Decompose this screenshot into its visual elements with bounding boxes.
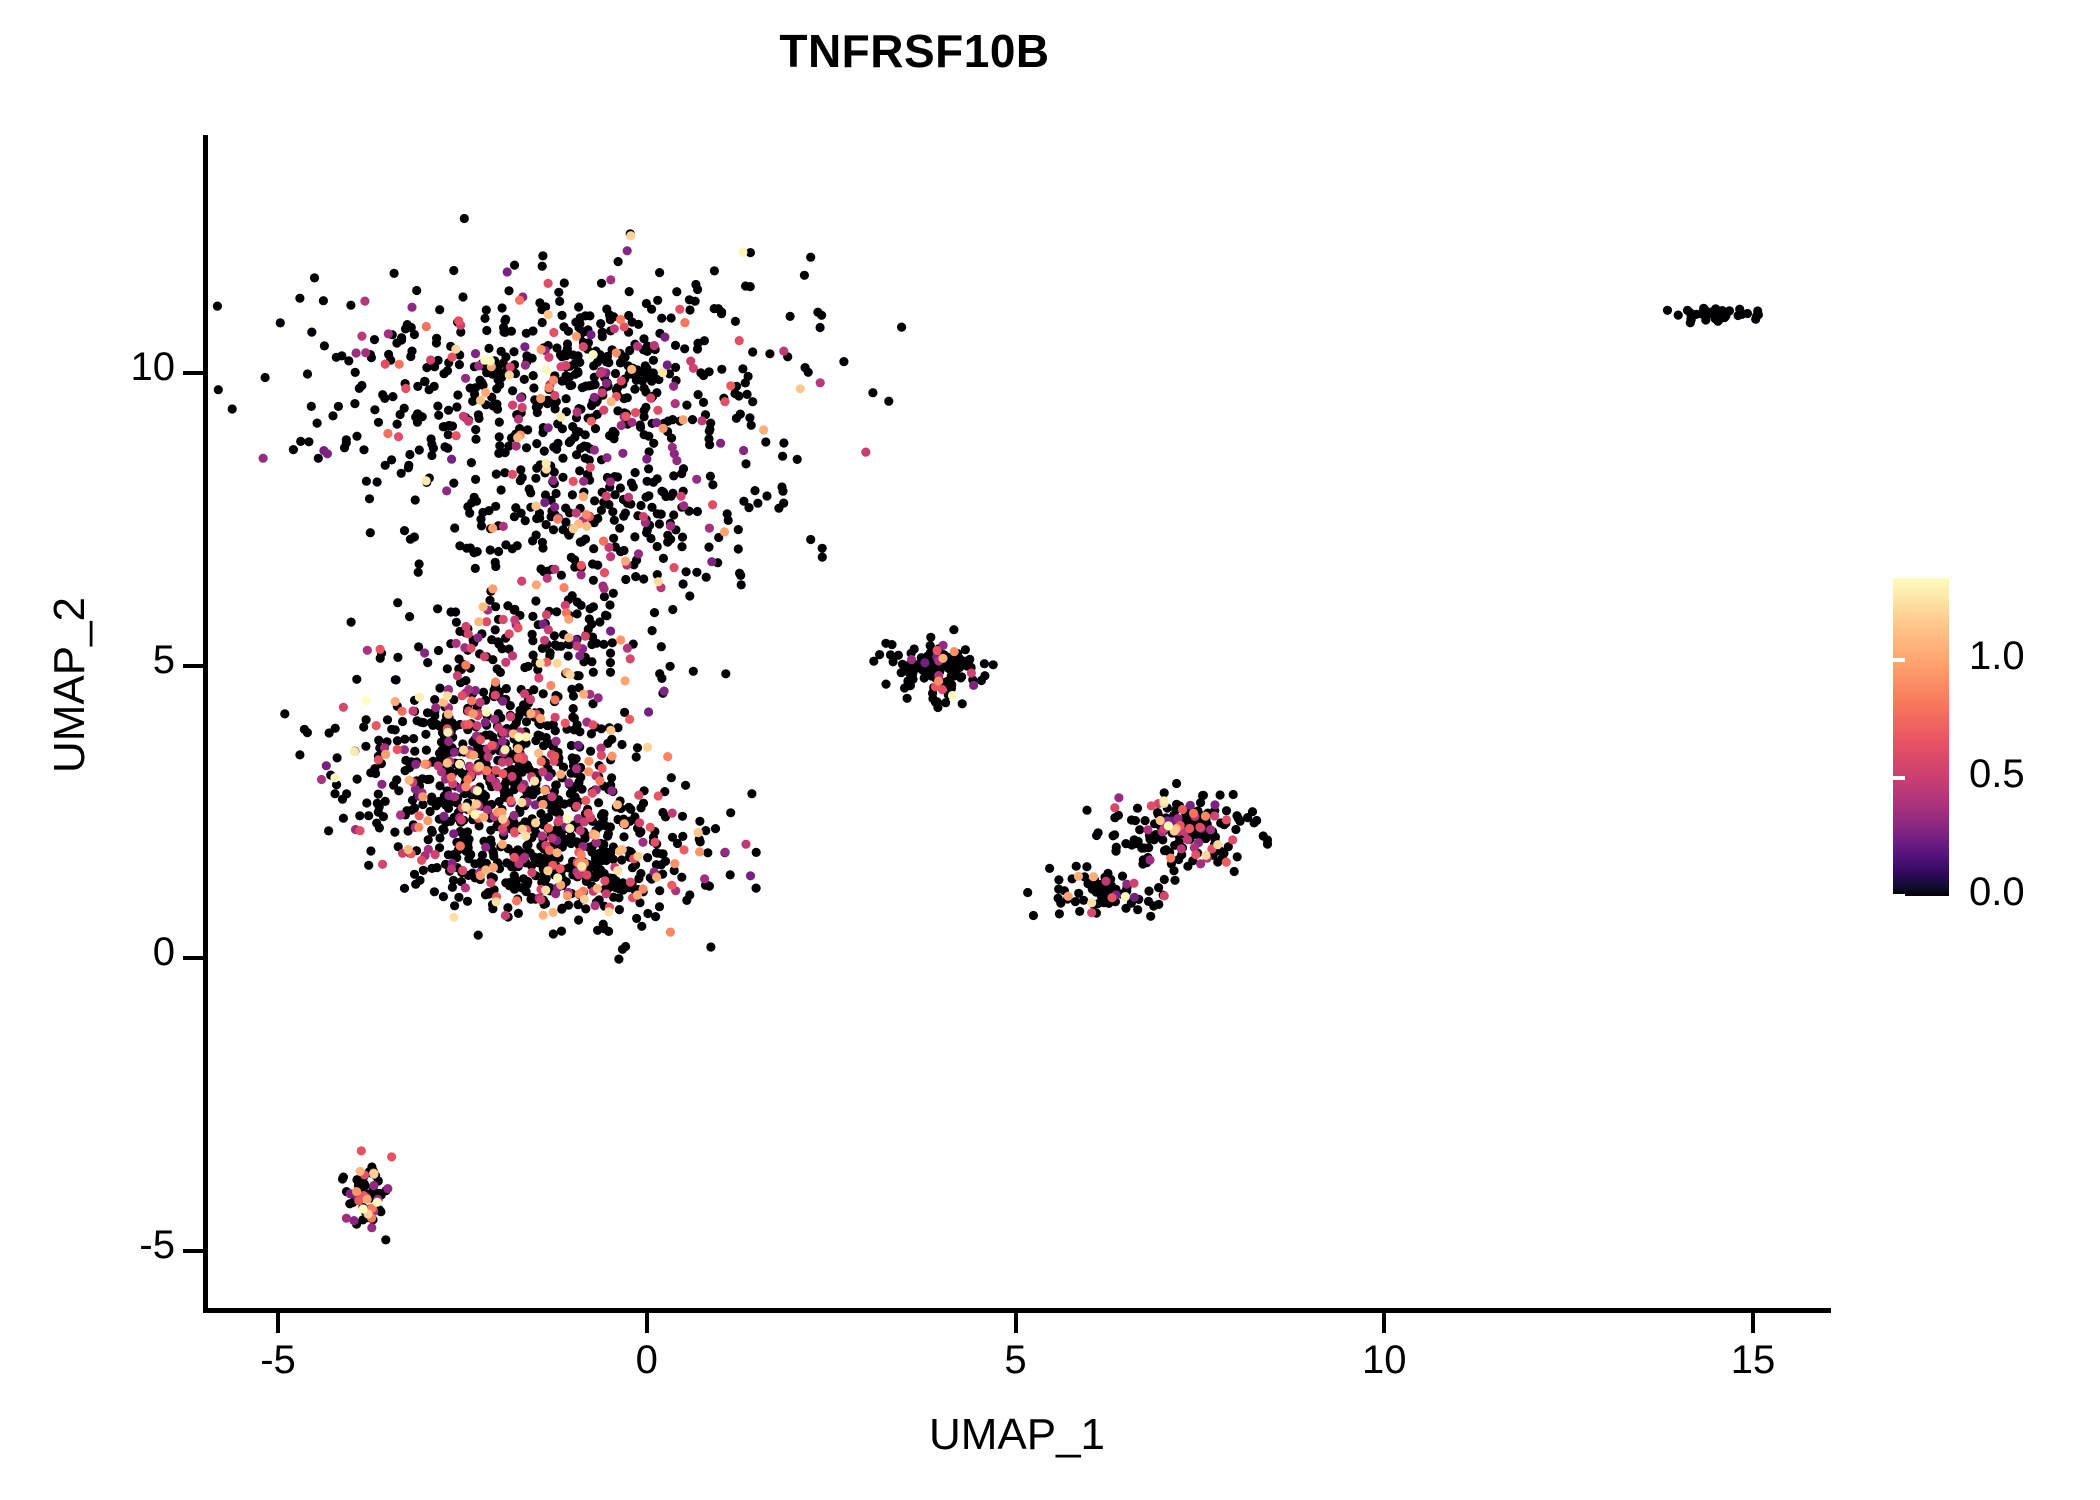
- scatter-point: [495, 432, 504, 441]
- scatter-point: [562, 394, 571, 403]
- scatter-point: [392, 675, 401, 684]
- scatter-point: [550, 752, 559, 761]
- scatter-point: [949, 625, 958, 634]
- scatter-point: [422, 746, 431, 755]
- scatter-point: [295, 294, 304, 303]
- colorbar-tick-mark: [1893, 658, 1905, 662]
- scatter-point: [501, 911, 510, 920]
- scatter-point: [476, 735, 485, 744]
- scatter-point: [1754, 310, 1763, 319]
- scatter-point: [660, 687, 669, 696]
- scatter-point: [373, 1198, 382, 1207]
- scatter-point: [734, 544, 743, 553]
- scatter-point: [590, 393, 599, 402]
- scatter-point: [471, 425, 480, 434]
- scatter-point: [392, 775, 401, 784]
- scatter-point: [1186, 801, 1195, 810]
- scatter-point: [774, 504, 783, 513]
- scatter-point: [694, 828, 703, 837]
- scatter-point: [364, 861, 373, 870]
- scatter-point: [509, 811, 518, 820]
- scatter-point: [563, 891, 572, 900]
- scatter-point: [486, 545, 495, 554]
- scatter-point: [1177, 844, 1186, 853]
- scatter-point: [414, 568, 423, 577]
- scatter-point: [333, 753, 342, 762]
- scatter-point: [626, 654, 635, 663]
- scatter-point: [449, 266, 458, 275]
- scatter-point: [685, 890, 694, 899]
- scatter-point: [696, 837, 705, 846]
- scatter-point: [364, 811, 373, 820]
- scatter-point: [602, 379, 611, 388]
- scatter-point: [527, 868, 536, 877]
- scatter-point: [839, 357, 848, 366]
- scatter-point: [588, 789, 597, 798]
- scatter-point: [737, 580, 746, 589]
- scatter-point: [515, 706, 524, 715]
- scatter-point: [330, 789, 339, 798]
- scatter-point: [752, 884, 761, 893]
- y-tick-label: 10: [0, 345, 175, 390]
- scatter-point: [563, 814, 572, 823]
- scatter-point: [394, 432, 403, 441]
- scatter-point: [542, 610, 551, 619]
- scatter-point: [636, 420, 645, 429]
- scatter-point: [658, 808, 667, 817]
- scatter-point: [508, 401, 517, 410]
- scatter-point: [620, 819, 629, 828]
- scatter-point: [597, 855, 606, 864]
- scatter-point: [652, 872, 661, 881]
- scatter-point: [557, 311, 566, 320]
- scatter-point: [455, 760, 464, 769]
- scatter-point: [605, 310, 614, 319]
- scatter-point: [599, 406, 608, 415]
- scatter-point: [481, 843, 490, 852]
- scatter-point: [547, 792, 556, 801]
- scatter-point: [296, 437, 305, 446]
- scatter-point: [591, 831, 600, 840]
- scatter-point: [574, 323, 583, 332]
- scatter-point: [516, 393, 525, 402]
- scatter-point: [542, 459, 551, 468]
- scatter-point: [555, 297, 564, 306]
- scatter-point: [374, 418, 383, 427]
- scatter-point: [459, 412, 468, 421]
- scatter-point: [517, 509, 526, 518]
- scatter-point: [289, 445, 298, 454]
- scatter-point: [818, 553, 827, 562]
- scatter-point: [455, 360, 464, 369]
- scatter-point: [675, 305, 684, 314]
- scatter-point: [579, 492, 588, 501]
- scatter-point: [606, 649, 615, 658]
- scatter-point: [613, 866, 622, 875]
- scatter-point: [977, 676, 986, 685]
- scatter-point: [721, 848, 730, 857]
- scatter-point: [570, 433, 579, 442]
- colorbar-tick-mark: [1893, 894, 1905, 898]
- scatter-point: [259, 454, 268, 463]
- scatter-point: [576, 773, 585, 782]
- scatter-point: [617, 855, 626, 864]
- scatter-point: [574, 302, 583, 311]
- scatter-point: [491, 691, 500, 700]
- scatter-point: [1144, 887, 1153, 896]
- scatter-point: [514, 909, 523, 918]
- scatter-point: [432, 720, 441, 729]
- scatter-point: [411, 760, 420, 769]
- scatter-point: [556, 350, 565, 359]
- scatter-point: [395, 360, 404, 369]
- scatter-point: [409, 734, 418, 743]
- scatter-point: [362, 798, 371, 807]
- scatter-point: [564, 633, 573, 642]
- scatter-point: [304, 437, 313, 446]
- scatter-point: [295, 750, 304, 759]
- scatter-point: [694, 390, 703, 399]
- scatter-point: [447, 455, 456, 464]
- scatter-point: [587, 401, 596, 410]
- scatter-point: [578, 383, 587, 392]
- x-tick-label: 5: [956, 1338, 1076, 1383]
- scatter-point: [593, 358, 602, 367]
- scatter-point: [500, 468, 509, 477]
- scatter-point: [969, 681, 978, 690]
- scatter-point: [388, 392, 397, 401]
- scatter-point: [589, 576, 598, 585]
- scatter-point: [328, 411, 337, 420]
- scatter-point: [1210, 800, 1219, 809]
- scatter-point: [357, 381, 366, 390]
- scatter-point: [474, 931, 483, 940]
- scatter-point: [538, 543, 547, 552]
- scatter-point: [531, 596, 540, 605]
- scatter-point: [741, 840, 750, 849]
- scatter-point: [586, 604, 595, 613]
- scatter-point: [359, 722, 368, 731]
- scatter-point: [617, 740, 626, 749]
- scatter-point: [529, 371, 538, 380]
- scatter-point: [457, 815, 466, 824]
- scatter-point: [393, 745, 402, 754]
- scatter-point: [597, 506, 606, 515]
- scatter-point: [619, 832, 628, 841]
- scatter-point: [521, 361, 530, 370]
- scatter-point: [314, 454, 323, 463]
- scatter-point: [1127, 840, 1136, 849]
- scatter-point: [563, 339, 572, 348]
- scatter-point: [405, 450, 414, 459]
- scatter-point: [584, 757, 593, 766]
- scatter-point: [482, 305, 491, 314]
- scatter-point: [340, 443, 349, 452]
- scatter-point: [621, 509, 630, 518]
- scatter-point: [556, 864, 565, 873]
- scatter-point: [634, 549, 643, 558]
- scatter-point: [391, 725, 400, 734]
- scatter-point: [609, 534, 618, 543]
- scatter-point: [553, 659, 562, 668]
- scatter-point: [589, 668, 598, 677]
- scatter-point: [861, 448, 870, 457]
- scatter-point: [1222, 858, 1231, 867]
- scatter-point: [577, 570, 586, 579]
- scatter-point: [663, 531, 672, 540]
- scatter-point: [616, 315, 625, 324]
- scatter-point: [503, 267, 512, 276]
- scatter-point: [549, 443, 558, 452]
- scatter-point: [636, 501, 645, 510]
- scatter-point: [508, 386, 517, 395]
- scatter-point: [444, 737, 453, 746]
- scatter-point: [501, 540, 510, 549]
- scatter-point: [706, 942, 715, 951]
- scatter-point: [481, 718, 490, 727]
- scatter-point: [721, 669, 730, 678]
- scatter-point: [678, 533, 687, 542]
- scatter-point: [553, 848, 562, 857]
- scatter-point: [947, 671, 956, 680]
- scatter-point: [461, 374, 470, 383]
- scatter-point: [313, 419, 322, 428]
- scatter-point: [920, 658, 929, 667]
- scatter-point: [459, 745, 468, 754]
- scatter-point: [539, 815, 548, 824]
- scatter-point: [680, 318, 689, 327]
- scatter-point: [606, 658, 615, 667]
- scatter-point: [482, 708, 491, 717]
- scatter-point: [410, 330, 419, 339]
- scatter-point: [582, 510, 591, 519]
- scatter-point: [542, 365, 551, 374]
- scatter-point: [590, 863, 599, 872]
- scatter-point: [702, 573, 711, 582]
- scatter-point: [1170, 876, 1179, 885]
- scatter-point: [577, 850, 586, 859]
- scatter-point: [517, 783, 526, 792]
- scatter-point: [565, 824, 574, 833]
- scatter-point: [452, 639, 461, 648]
- scatter-point: [617, 421, 626, 430]
- scatter-point: [508, 772, 517, 781]
- scatter-point: [537, 345, 546, 354]
- scatter-point: [342, 435, 351, 444]
- scatter-point: [426, 807, 435, 816]
- scatter-point: [800, 271, 809, 280]
- colorbar-tick-mark: [2071, 776, 2083, 780]
- scatter-point: [598, 764, 607, 773]
- scatter-point: [491, 677, 500, 686]
- scatter-point: [750, 486, 759, 495]
- scatter-point: [1082, 862, 1091, 871]
- scatter-point: [550, 391, 559, 400]
- scatter-point: [743, 390, 752, 399]
- scatter-point: [350, 747, 359, 756]
- scatter-point: [786, 312, 795, 321]
- scatter-point: [400, 404, 409, 413]
- scatter-point: [391, 697, 400, 706]
- scatter-point: [1145, 834, 1154, 843]
- scatter-point: [538, 318, 547, 327]
- scatter-point: [413, 716, 422, 725]
- scatter-point: [1248, 807, 1257, 816]
- scatter-point: [415, 693, 424, 702]
- scatter-point: [534, 731, 543, 740]
- scatter-point: [617, 376, 626, 385]
- scatter-point: [653, 542, 662, 551]
- scatter-point: [469, 751, 478, 760]
- scatter-point: [438, 825, 447, 834]
- scatter-point: [569, 524, 578, 533]
- scatter-point: [656, 510, 665, 519]
- x-tick-label: 15: [1693, 1338, 1813, 1383]
- scatter-point: [1147, 801, 1156, 810]
- scatter-point: [567, 381, 576, 390]
- scatter-point: [572, 802, 581, 811]
- scatter-point: [608, 752, 617, 761]
- scatter-point: [612, 348, 621, 357]
- scatter-point: [532, 514, 541, 523]
- scatter-point: [677, 873, 686, 882]
- scatter-point: [1074, 889, 1083, 898]
- scatter-point: [704, 543, 713, 552]
- scatter-point: [474, 617, 483, 626]
- scatter-point: [941, 698, 950, 707]
- scatter-point: [602, 453, 611, 462]
- scatter-point: [549, 908, 558, 917]
- scatter-point: [561, 361, 570, 370]
- x-tick-label: 10: [1324, 1338, 1444, 1383]
- scatter-point: [354, 1196, 363, 1205]
- scatter-point: [310, 273, 319, 282]
- scatter-point: [894, 651, 903, 660]
- scatter-point: [407, 303, 416, 312]
- scatter-point: [323, 449, 332, 458]
- scatter-point: [579, 342, 588, 351]
- scatter-point: [603, 832, 612, 841]
- scatter-point: [600, 568, 609, 577]
- scatter-point: [734, 391, 743, 400]
- scatter-point: [685, 295, 694, 304]
- scatter-point: [666, 662, 675, 671]
- scatter-point: [639, 574, 648, 583]
- scatter-point: [654, 791, 663, 800]
- scatter-point: [581, 632, 590, 641]
- scatter-point: [372, 721, 381, 730]
- scatter-point: [564, 615, 573, 624]
- scatter-point: [463, 897, 472, 906]
- scatter-point: [400, 735, 409, 744]
- scatter-point: [650, 341, 659, 350]
- scatter-point: [762, 491, 771, 500]
- scatter-point: [373, 477, 382, 486]
- scatter-point: [432, 863, 441, 872]
- scatter-point: [228, 404, 237, 413]
- scatter-point: [451, 607, 460, 616]
- scatter-point: [618, 845, 627, 854]
- scatter-point: [365, 494, 374, 503]
- scatter-point: [381, 360, 390, 369]
- scatter-point: [492, 897, 501, 906]
- scatter-point: [705, 440, 714, 449]
- scatter-point: [746, 282, 755, 291]
- scatter-point: [615, 905, 624, 914]
- scatter-point: [479, 602, 488, 611]
- scatter-point: [444, 430, 453, 439]
- page-title: TNFRSF10B: [0, 24, 1829, 78]
- colorbar-gradient: [1893, 578, 1949, 896]
- scatter-point: [606, 275, 615, 284]
- scatter-point: [933, 703, 942, 712]
- scatter-point: [419, 866, 428, 875]
- scatter-point: [640, 412, 649, 421]
- scatter-point: [868, 388, 877, 397]
- scatter-point: [380, 394, 389, 403]
- scatter-point: [641, 403, 650, 412]
- scatter-point: [804, 368, 813, 377]
- scatter-point: [577, 785, 586, 794]
- scatter-point: [573, 609, 582, 618]
- scatter-point: [716, 439, 725, 448]
- scatter-point: [579, 477, 588, 486]
- scatter-point: [370, 405, 379, 414]
- scatter-point: [685, 305, 694, 314]
- scatter-point: [613, 800, 622, 809]
- scatter-point: [443, 664, 452, 673]
- scatter-point: [530, 776, 539, 785]
- scatter-point: [450, 901, 459, 910]
- scatter-point: [646, 823, 655, 832]
- scatter-point: [471, 475, 480, 484]
- scatter-point: [672, 287, 681, 296]
- scatter-point: [630, 385, 639, 394]
- scatter-point: [606, 627, 615, 636]
- scatter-point: [734, 525, 743, 534]
- scatter-point: [550, 502, 559, 511]
- scatter-point: [659, 424, 668, 433]
- scatter-point: [604, 500, 613, 509]
- scatter-point: [561, 371, 570, 380]
- scatter-point: [666, 928, 675, 937]
- scatter-point: [668, 443, 677, 452]
- scatter-point: [471, 349, 480, 358]
- scatter-point: [411, 495, 420, 504]
- scatter-point: [667, 434, 676, 443]
- scatter-point: [659, 488, 668, 497]
- scatter-point: [415, 876, 424, 885]
- scatter-point: [1094, 828, 1103, 837]
- scatter-point: [669, 382, 678, 391]
- scatter-point: [779, 438, 788, 447]
- scatter-point: [472, 800, 481, 809]
- scatter-point: [643, 477, 652, 486]
- scatter-point: [434, 411, 443, 420]
- scatter-point: [692, 568, 701, 577]
- scatter-point: [590, 445, 599, 454]
- scatter-point: [383, 429, 392, 438]
- scatter-point: [980, 659, 989, 668]
- scatter-point: [569, 704, 578, 713]
- scatter-point: [280, 709, 289, 718]
- scatter-point: [454, 893, 463, 902]
- scatter-point: [625, 715, 634, 724]
- scatter-point: [593, 884, 602, 893]
- scatter-point: [632, 752, 641, 761]
- scatter-point: [699, 371, 708, 380]
- scatter-point: [600, 584, 609, 593]
